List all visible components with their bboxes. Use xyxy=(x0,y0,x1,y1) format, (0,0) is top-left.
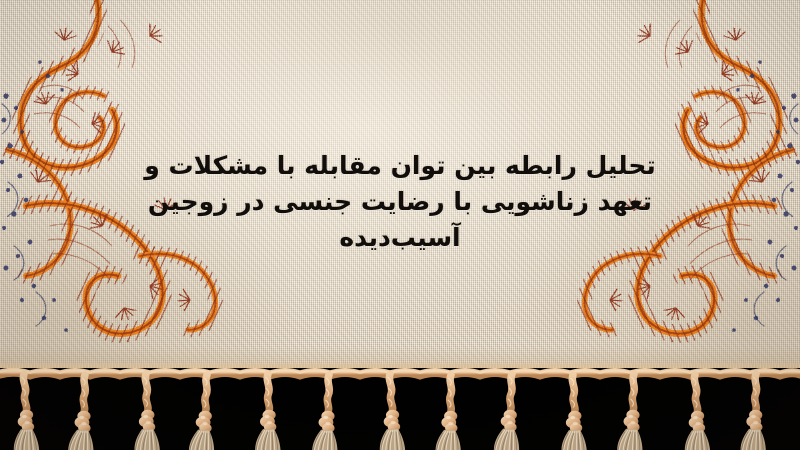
knotted-tassel-fringe xyxy=(0,368,800,450)
title-slide: تحلیل رابطه بین توان مقابله با مشکلات و … xyxy=(0,0,800,450)
title-line-1: تحلیل رابطه بین توان مقابله با مشکلات و xyxy=(0,148,800,184)
title-line-3: آسیب‌دیده xyxy=(0,220,800,256)
title-line-2: تعهد زناشویی با رضایت جنسی در زوجین xyxy=(0,184,800,220)
slide-title: تحلیل رابطه بین توان مقابله با مشکلات و … xyxy=(0,148,800,256)
